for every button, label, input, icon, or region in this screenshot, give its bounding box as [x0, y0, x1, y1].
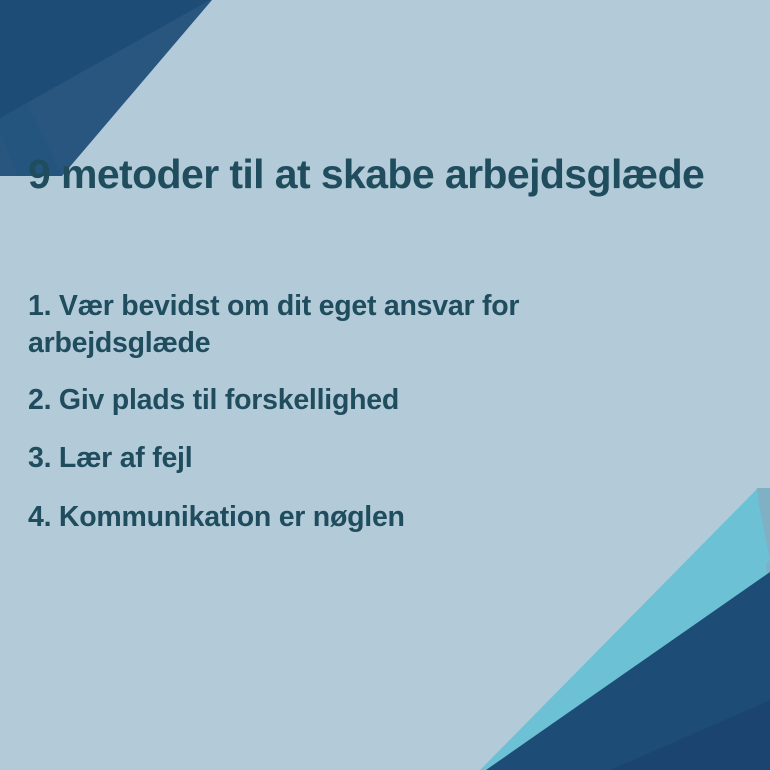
list-item: 3. Lær af fejl	[28, 440, 688, 477]
list-item: 4. Kommunikation er nøglen	[28, 499, 688, 536]
list-item: 2. Giv plads til forskellighed	[28, 382, 688, 419]
page-title: 9 metoder til at skabe arbejdsglæde	[28, 152, 758, 196]
slide-canvas: 9 metoder til at skabe arbejdsglæde 1. V…	[0, 0, 770, 770]
methods-list: 1. Vær bevidst om dit eget ansvar for ar…	[28, 288, 688, 536]
slide-content: 9 metoder til at skabe arbejdsglæde 1. V…	[0, 0, 770, 770]
list-item: 1. Vær bevidst om dit eget ansvar for ar…	[28, 288, 568, 362]
